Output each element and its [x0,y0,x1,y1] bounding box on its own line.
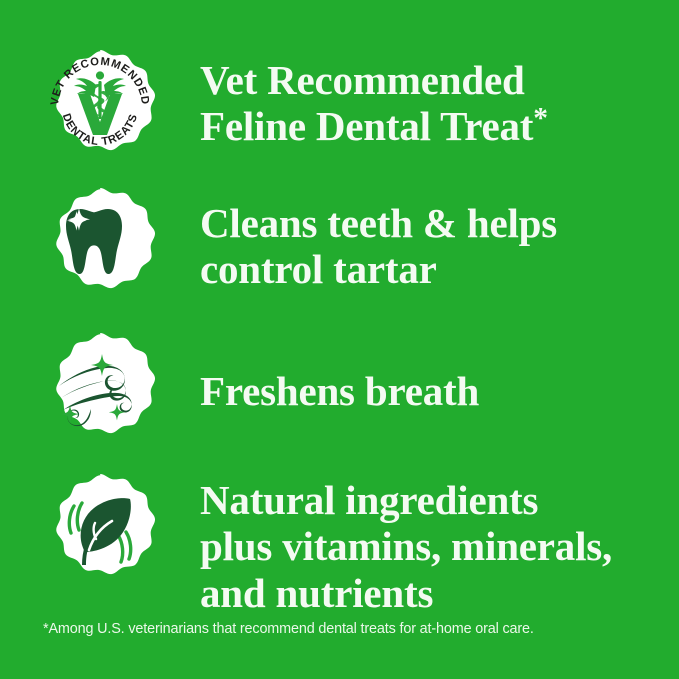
feature-line: control tartar [200,246,661,292]
badge-cell [0,331,200,449]
text-cell: Natural ingredients plus vitamins, miner… [200,472,679,616]
feature-heading-freshens-breath: Freshens breath [200,368,661,414]
promo-feature-panel: VET RECOMMENDED DENTAL TREATS [0,0,679,679]
feature-row-cleans-teeth: Cleans teeth & helps control tartar [0,186,679,304]
feature-line-text: Feline Dental Treat [200,103,533,149]
badge-cell [0,186,200,304]
feature-row-natural-ingredients: Natural ingredients plus vitamins, miner… [0,472,679,616]
feature-line: and nutrients [200,570,661,616]
feature-row-freshens-breath: Freshens breath [0,331,679,449]
feature-line: plus vitamins, minerals, [200,523,661,569]
vet-recommended-seal-icon: VET RECOMMENDED DENTAL TREATS [41,48,159,166]
natural-leaf-icon [41,472,159,590]
feature-line: Freshens breath [200,368,661,414]
text-cell: Vet Recommended Feline Dental Treat* [200,48,679,150]
feature-heading-vet-recommended: Vet Recommended Feline Dental Treat* [200,57,661,150]
footnote-marker: * [533,103,548,135]
text-cell: Freshens breath [200,331,679,414]
sparkling-tooth-icon [41,186,159,304]
feature-line: Cleans teeth & helps [200,200,661,246]
text-cell: Cleans teeth & helps control tartar [200,186,679,293]
feature-heading-cleans-teeth: Cleans teeth & helps control tartar [200,200,661,293]
feature-heading-natural-ingredients: Natural ingredients plus vitamins, miner… [200,477,661,616]
feature-line: Natural ingredients [200,477,661,523]
footnote-disclaimer: *Among U.S. veterinarians that recommend… [43,621,655,638]
feature-line: Feline Dental Treat* [200,103,661,149]
feature-line: Vet Recommended [200,57,661,103]
badge-cell: VET RECOMMENDED DENTAL TREATS [0,48,200,166]
badge-cell [0,472,200,590]
fresh-breath-swirl-icon [41,331,159,449]
feature-row-vet-recommended: VET RECOMMENDED DENTAL TREATS [0,48,679,166]
